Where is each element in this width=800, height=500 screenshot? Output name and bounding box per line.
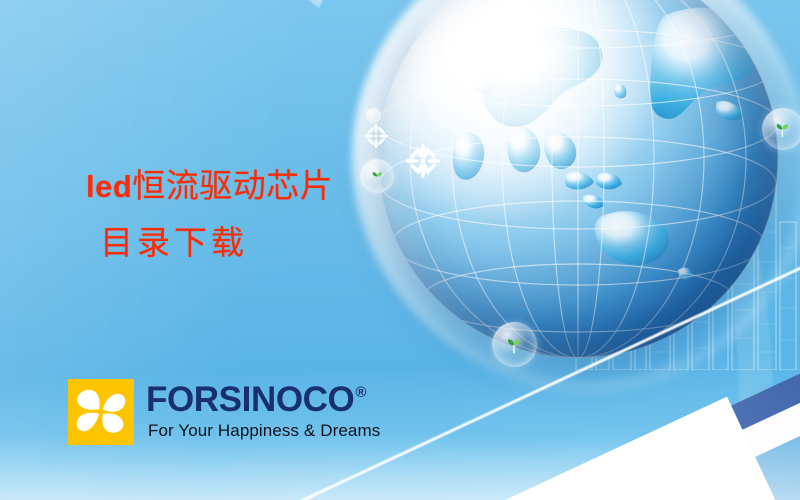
flower-sprite-tiny: [560, 96, 573, 109]
brand-name: FORSINOCO: [146, 383, 354, 417]
pinwheel-clover-icon: [68, 379, 134, 445]
bubble-sprout-lower: [492, 322, 537, 367]
brand-tagline: For Your Happiness & Dreams: [148, 421, 380, 441]
brand-logo: FORSINOCO ® For Your Happiness & Dreams: [68, 379, 380, 445]
headline-line-1: led恒流驱动芯片: [86, 168, 426, 207]
logo-text-block: FORSINOCO ® For Your Happiness & Dreams: [146, 383, 380, 440]
brand-wordmark: FORSINOCO ®: [146, 383, 380, 417]
headline-cjk-part: 恒流驱动芯片: [132, 169, 333, 205]
headline-line-2: 目录下载: [100, 225, 426, 264]
green-sprout-icon: [773, 121, 793, 139]
bubble-sprout-right-edge: [762, 108, 800, 150]
green-sprout-icon: [504, 336, 526, 356]
bubble-sprout-small-top: [366, 108, 381, 123]
promo-banner: led恒流驱动芯片 目录下载 FORSINOCO ® For You: [0, 0, 800, 500]
registered-trademark-icon: ®: [355, 385, 366, 400]
flower-sprite-lower: [364, 124, 388, 148]
headline-latin-prefix: led: [86, 169, 132, 204]
page-title: led恒流驱动芯片 目录下载: [86, 168, 426, 264]
